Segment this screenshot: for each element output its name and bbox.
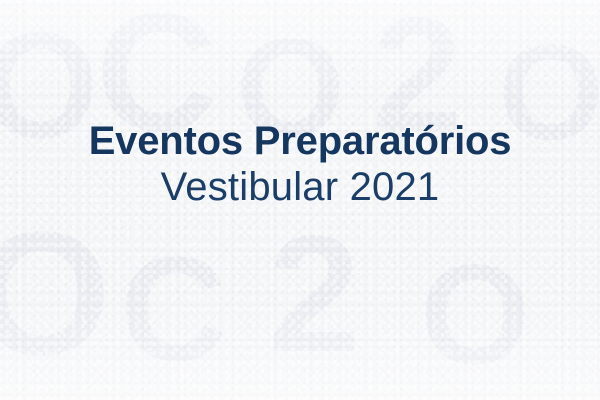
- watermark-glyph: 2: [268, 212, 360, 378]
- banner-title-secondary: Vestibular 2021: [0, 164, 600, 210]
- watermark-glyph: O: [420, 244, 530, 386]
- watermark-glyph: C: [120, 236, 227, 384]
- banner-title-block: Eventos Preparatórios Vestibular 2021: [0, 118, 600, 210]
- banner-title-primary: Eventos Preparatórios: [0, 118, 600, 164]
- event-hero-banner: O C O 2 O O C 2 O Eventos Preparatórios …: [0, 0, 600, 400]
- watermark-glyph: O: [0, 206, 111, 382]
